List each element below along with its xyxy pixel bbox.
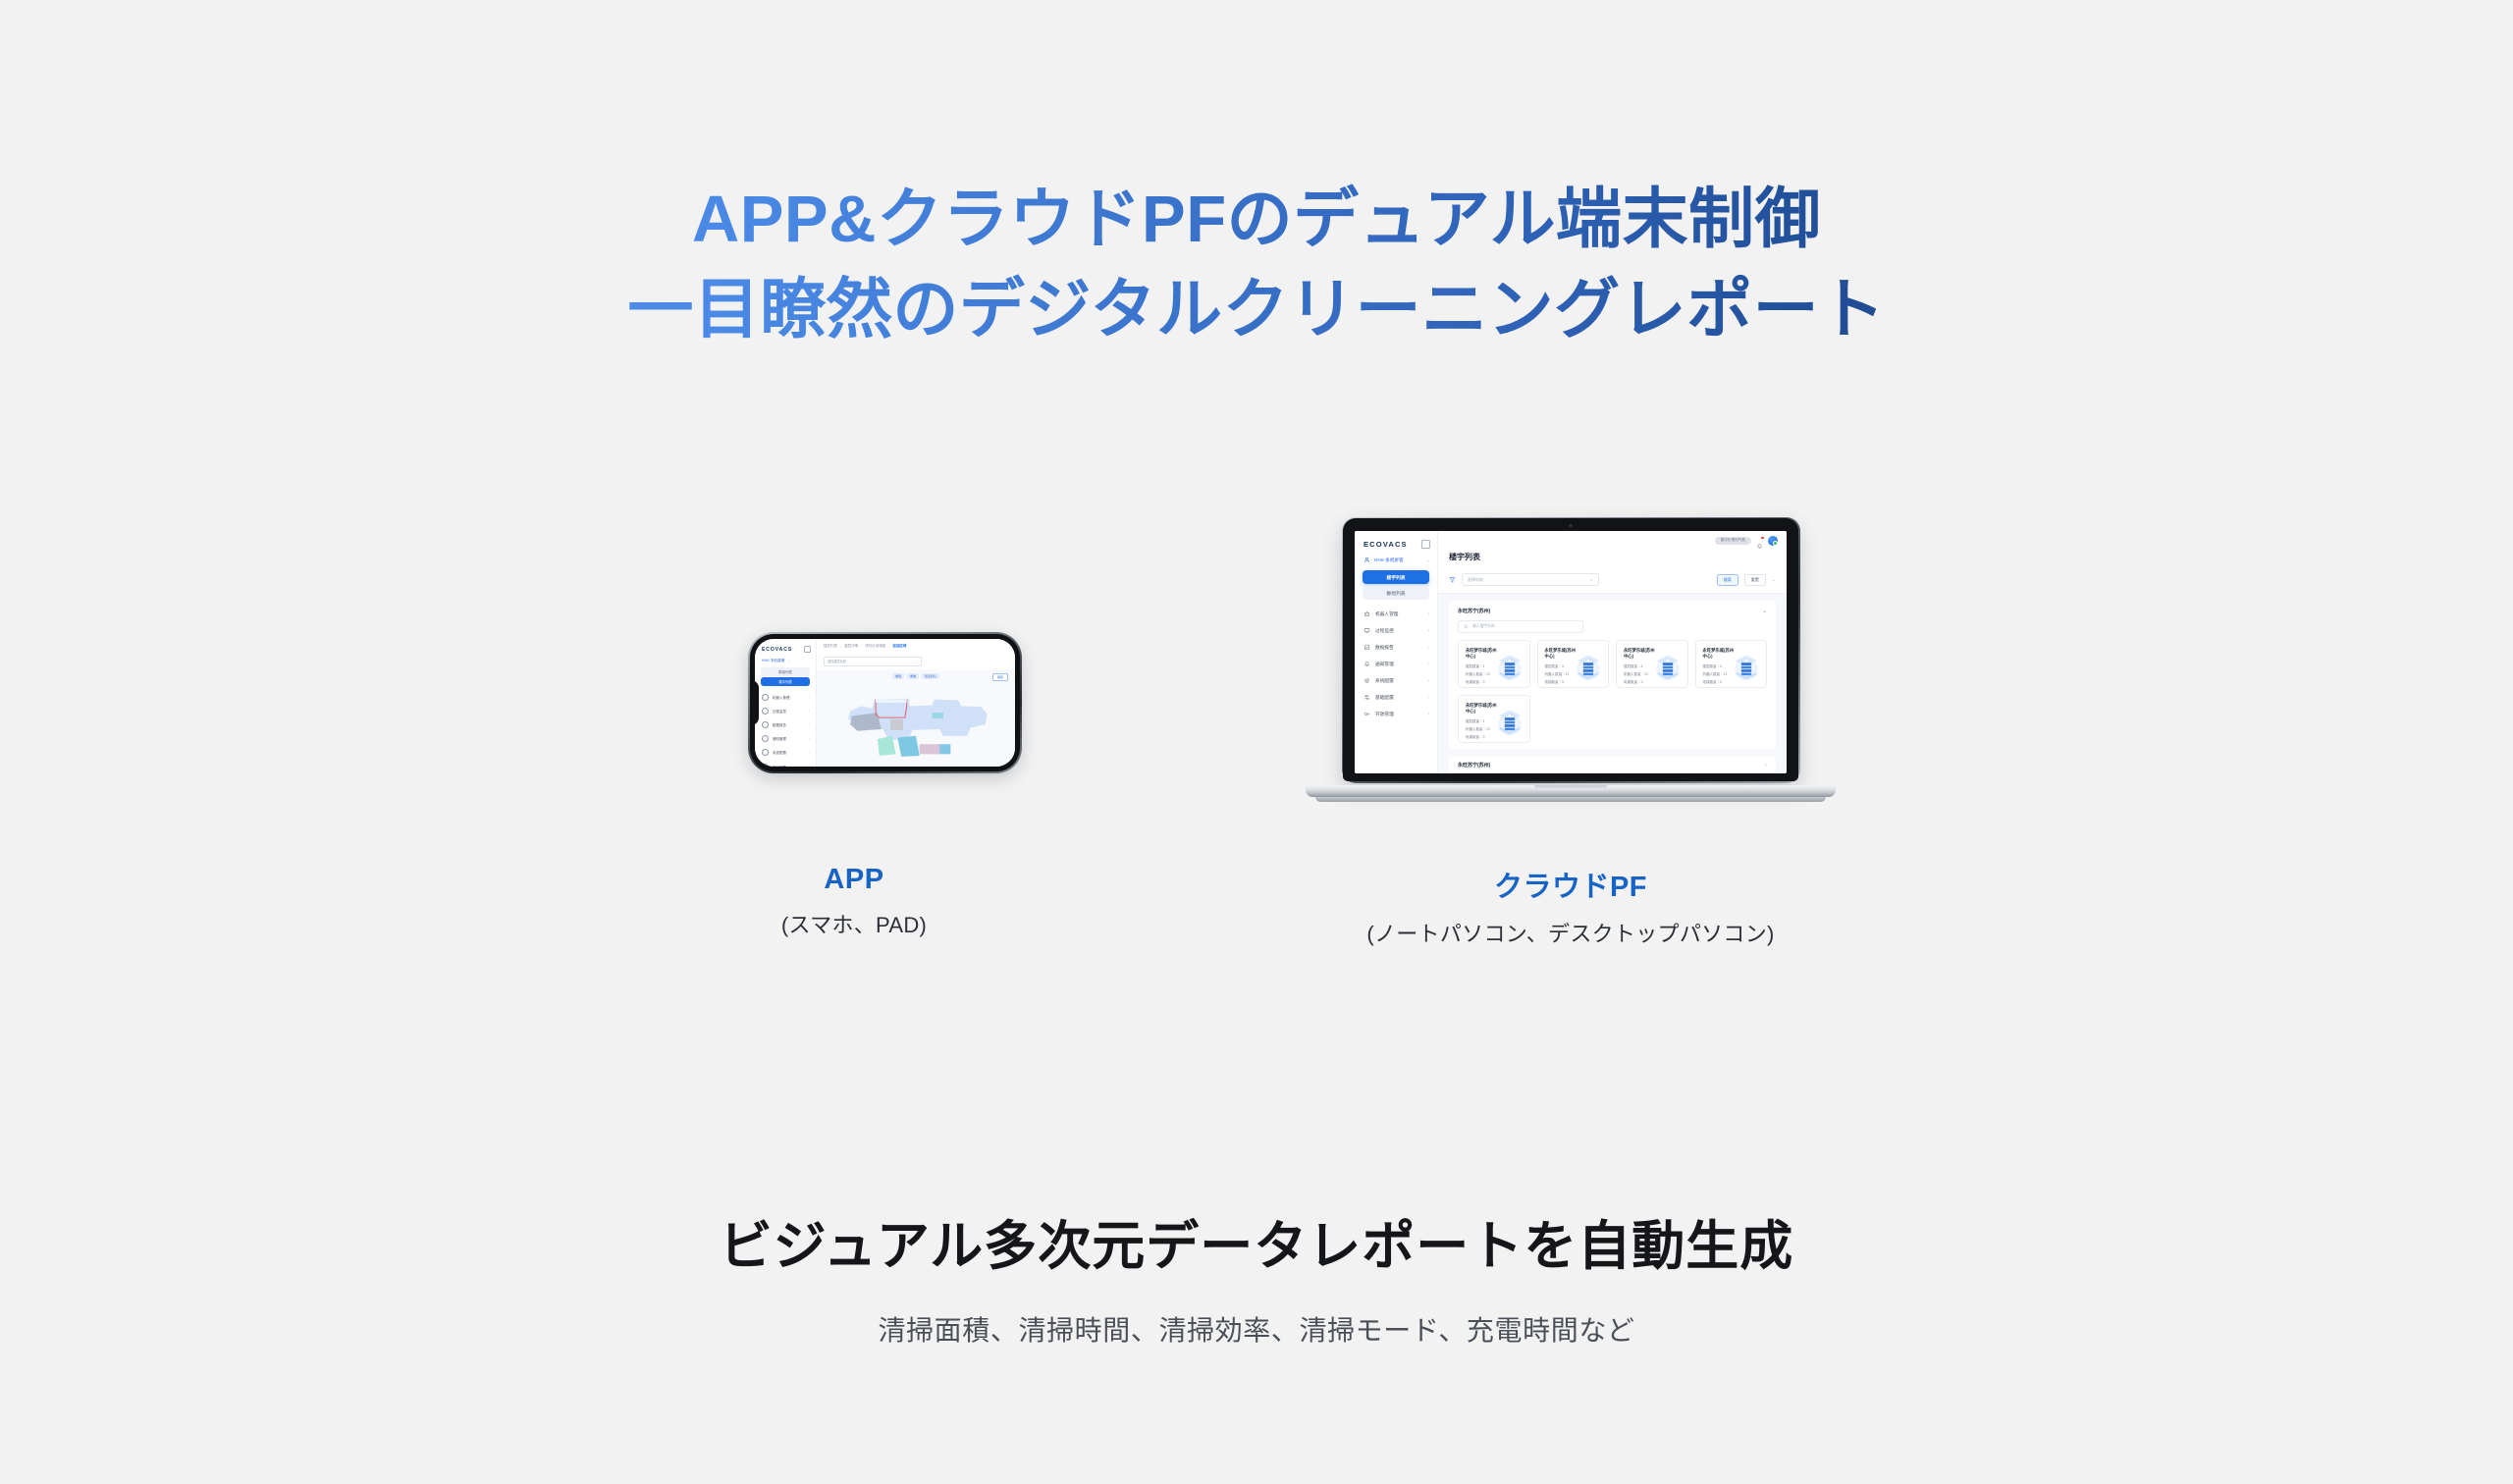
robot-icon <box>1363 610 1370 617</box>
building-card-grid: 永旺梦乐城(苏州中心) 楼层数量：4 机器人数量：12 电梯数量：3 <box>1449 640 1776 743</box>
chevron-right-icon: › <box>809 765 810 767</box>
chevron-right-icon: › <box>809 695 810 699</box>
building-card[interactable]: 永旺梦乐城(苏州中心) 楼层数量：4 机器人数量：12 电梯数量：3 <box>1458 640 1530 688</box>
filter-icon[interactable] <box>1449 576 1456 583</box>
phone-screen: ECOVACS HHS-多机房管 ⌄ 群组列表 楼宇列表 机器人管理 › <box>755 639 1015 767</box>
hero-line-2: 一目瞭然のデジタルクリーニングレポート <box>0 272 2513 348</box>
label-app-sub: (スマホ、PAD) <box>628 908 1080 939</box>
breadcrumb-item[interactable]: 清扫区域调整 <box>865 644 885 649</box>
label-cloud-sub: (ノートパソコン、デスクトップパソコン) <box>1325 917 1816 948</box>
bell-icon <box>762 735 769 742</box>
chevron-right-icon: › <box>809 751 810 755</box>
laptop-menu-label: 开放管理 <box>1375 712 1422 717</box>
laptop-menu-item-open[interactable]: 开放管理 › <box>1355 706 1437 722</box>
breadcrumb-separator: › <box>840 645 841 649</box>
card-info: 永旺梦乐城(苏州中心) 楼层数量：4 机器人数量：12 电梯数量：3 <box>1466 703 1497 742</box>
phone-menu-item[interactable]: 基础配置 › <box>755 760 816 767</box>
floorplan-map[interactable] <box>825 681 1007 765</box>
chevron-right-icon: › <box>1765 763 1767 768</box>
monitor-icon <box>762 708 769 715</box>
laptop-menu-label: 通知管理 <box>1375 662 1422 667</box>
card-info: 永旺梦乐城(苏州中心) 楼层数量：4 机器人数量：12 电梯数量：3 <box>1545 648 1577 687</box>
building-stack-icon <box>1497 653 1523 682</box>
ecovacs-logo: ECOVACS <box>762 647 792 653</box>
chevron-right-icon: › <box>1427 695 1429 701</box>
floor-select[interactable]: 选择楼层名称 ⌄ <box>824 657 922 666</box>
breadcrumb-separator: › <box>888 645 889 649</box>
expand-filters-icon[interactable]: ⌄ <box>1772 577 1776 583</box>
building-card[interactable]: 永旺梦乐城(苏州中心) 楼层数量：4 机器人数量：12 电梯数量：3 <box>1695 640 1768 688</box>
laptop-sidebar: ECOVACS HHS-多机房管 ⌄ 楼宇列表 群组列表 <box>1355 531 1438 773</box>
phone-menu-item[interactable]: 数据报告 › <box>755 717 816 731</box>
gear-icon <box>762 749 769 756</box>
hero-line-1: APP&クラウドPFのデュアル端末制御 <box>0 182 2513 258</box>
phone-menu-list: 机器人管理 › 过程监控 › 数据报告 › <box>755 690 816 767</box>
phone-main-area: 楼层列表 › 楼层详情 › 清扫区域调整 › 追加区域 选择楼层名称 ⌄ <box>817 639 1015 767</box>
redo-button[interactable]: 重做 <box>907 673 919 679</box>
card-title: 永旺梦乐城(苏州中心) <box>1624 648 1655 660</box>
phone-menu-item[interactable]: 机器人管理 › <box>755 690 816 704</box>
card-metric-elevators: 电梯数量：3 <box>1466 735 1497 740</box>
floor-select-value: 选择楼层名称 <box>828 659 846 663</box>
laptop-nav-secondary[interactable]: 群组列表 <box>1363 586 1429 600</box>
phone-map-area[interactable]: 撤销 重做 恢复默认 保存 <box>817 669 1015 768</box>
card-title: 永旺梦乐城(苏州中心) <box>1466 703 1497 715</box>
breadcrumb-current: 追加区域 <box>892 644 906 649</box>
chevron-right-icon: › <box>1427 678 1429 684</box>
laptop-menu-list: 机器人管理 › 过程监控 › 数据报告 › <box>1355 606 1437 722</box>
key-icon <box>1363 711 1370 717</box>
laptop-brand-row: ECOVACS <box>1355 535 1437 555</box>
menu-collapse-icon[interactable] <box>1421 540 1430 549</box>
laptop-menu-label: 系统配置 <box>1375 678 1422 684</box>
card-metric-floors: 楼层数量：4 <box>1545 664 1577 669</box>
chevron-right-icon: › <box>1427 628 1429 634</box>
card-metric-floors: 楼层数量：4 <box>1466 664 1497 669</box>
org-filter-select[interactable]: 选择机构 ⌄ <box>1462 573 1599 586</box>
building-card[interactable]: 永旺梦乐城(苏州中心) 楼层数量：4 机器人数量：12 电梯数量：3 <box>1458 695 1530 743</box>
chevron-right-icon: › <box>1427 645 1429 651</box>
chevron-right-icon: › <box>809 737 810 741</box>
chevron-right-icon: › <box>1427 611 1429 617</box>
sliders-icon <box>762 764 769 767</box>
phone-menu-label: 系统配置 <box>773 750 805 755</box>
laptop-main-area: 数字化清扫气氛 楼宇列表 选择机构 ⌄ <box>1438 531 1787 773</box>
org-filter-value: 选择机构 <box>1468 577 1483 583</box>
phone-menu-label: 通知管理 <box>773 736 805 741</box>
card-metric-robots: 机器人数量：12 <box>1703 672 1735 677</box>
phone-org-selector[interactable]: HHS-多机房管 ⌄ <box>755 656 816 665</box>
card-metric-floors: 楼层数量：4 <box>1703 664 1735 669</box>
avatar[interactable] <box>1768 536 1778 546</box>
building-stack-icon <box>1576 653 1601 682</box>
menu-collapse-icon[interactable] <box>804 646 811 653</box>
card-metric-elevators: 电梯数量：3 <box>1624 680 1655 685</box>
laptop-menu-label: 数据报告 <box>1375 645 1422 651</box>
laptop-content: 永旺苏宁(苏州) ⌄ 输入楼宇名称 <box>1438 594 1787 773</box>
collapsed-group-list: 永旺苏宁(苏州) › 永旺苏宁(苏州) › 永旺苏宁(苏州) › <box>1449 757 1776 773</box>
laptop-menu-item-system[interactable]: 系统配置 › <box>1355 672 1437 689</box>
sliders-icon <box>1363 694 1370 701</box>
bottom-title: ビジュアル多次元データレポートを自動生成 <box>0 1202 2513 1280</box>
laptop-menu-item-report[interactable]: 数据报告 › <box>1355 639 1437 656</box>
laptop-menu-item-robot[interactable]: 机器人管理 › <box>1355 606 1437 622</box>
laptop-menu-item-base[interactable]: 基础配置 › <box>1355 689 1437 706</box>
laptop-menu-item-notification[interactable]: 通知管理 › <box>1355 656 1437 672</box>
card-metric-elevators: 电梯数量：3 <box>1703 680 1735 685</box>
map-toolbar: 撤销 重做 恢复默认 <box>892 673 939 679</box>
notification-dot <box>1761 537 1764 540</box>
laptop-mockup: ECOVACS HHS-多机房管 ⌄ 楼宇列表 群组列表 <box>1306 510 1836 805</box>
label-app-title: APP <box>628 864 1080 896</box>
building-stack-icon <box>1655 653 1681 682</box>
gear-icon <box>1363 677 1370 684</box>
undo-button[interactable]: 撤销 <box>892 673 904 679</box>
reset-default-button[interactable]: 恢复默认 <box>922 673 939 679</box>
building-search-input[interactable]: 输入楼宇名称 <box>1458 620 1583 633</box>
card-metric-elevators: 电梯数量：3 <box>1545 680 1577 685</box>
laptop-menu-label: 机器人管理 <box>1375 611 1422 617</box>
label-cloud: クラウドPF (ノートパソコン、デスクトップパソコン) <box>1325 864 1816 948</box>
card-title: 永旺梦乐城(苏州中心) <box>1703 648 1735 660</box>
card-info: 永旺梦乐城(苏州中心) 楼层数量：4 机器人数量：12 电梯数量：3 <box>1703 648 1735 687</box>
report-icon <box>1363 644 1370 651</box>
chevron-right-icon: › <box>1427 662 1429 667</box>
card-info: 永旺梦乐城(苏州中心) 楼层数量：4 机器人数量：12 电梯数量：3 <box>1624 648 1655 687</box>
laptop-org-selector[interactable]: HHS-多机房管 ⌄ <box>1355 555 1437 568</box>
phone-menu-item[interactable]: 通知管理 › <box>755 732 816 746</box>
chevron-down-icon: ⌄ <box>915 660 918 663</box>
page-root: APP&クラウドPFのデュアル端末制御 一目瞭然のデジタルクリーニングレポート … <box>0 0 2513 1484</box>
chevron-down-icon: ⌄ <box>1426 557 1430 563</box>
phone-notch <box>750 680 759 725</box>
breadcrumb: 楼层列表 › 楼层详情 › 清扫区域调整 › 追加区域 <box>817 639 1015 653</box>
building-group-panel: 永旺苏宁(苏州) ⌄ 输入楼宇名称 <box>1449 601 1776 749</box>
chevron-right-icon: › <box>809 722 810 726</box>
panel-title: 永旺苏宁(苏州) <box>1458 608 1490 614</box>
breadcrumb-item[interactable]: 楼层列表 <box>824 644 837 649</box>
card-title: 永旺梦乐城(苏州中心) <box>1466 648 1497 660</box>
phone-menu-label: 基础配置 <box>773 765 805 767</box>
laptop-org-label: HHS-多机房管 <box>1374 557 1422 563</box>
hero-heading: APP&クラウドPFのデュアル端末制御 一目瞭然のデジタルクリーニングレポート <box>0 182 2513 349</box>
breadcrumb-item[interactable]: 楼层详情 <box>844 644 858 649</box>
laptop-menu-item-monitor[interactable]: 过程监控 › <box>1355 622 1437 639</box>
phone-menu-item[interactable]: 过程监控 › <box>755 704 816 717</box>
building-card[interactable]: 永旺梦乐城(苏州中心) 楼层数量：4 机器人数量：12 电梯数量：3 <box>1537 640 1610 688</box>
chevron-down-icon: ⌄ <box>1762 609 1767 614</box>
phone-mockup: ECOVACS HHS-多机房管 ⌄ 群组列表 楼宇列表 机器人管理 › <box>750 634 1020 771</box>
bell-icon <box>1363 661 1370 667</box>
building-search-placeholder: 输入楼宇名称 <box>1472 624 1495 629</box>
save-button[interactable]: 保存 <box>992 673 1008 682</box>
bottom-subtitle: 清掃面積、清掃時間、清掃効率、清掃モード、充電時間など <box>0 1309 2513 1349</box>
laptop-menu-label: 过程监控 <box>1375 628 1422 634</box>
bottom-section: ビジュアル多次元データレポートを自動生成 清掃面積、清掃時間、清掃効率、清掃モー… <box>0 1202 2513 1349</box>
label-app: APP (スマホ、PAD) <box>628 864 1080 939</box>
ecovacs-logo: ECOVACS <box>1363 540 1408 549</box>
laptop-nav-primary[interactable]: 楼宇列表 <box>1363 570 1429 584</box>
monitor-icon <box>1363 627 1370 634</box>
building-stack-icon <box>1497 708 1523 737</box>
search-button[interactable]: 搜索 <box>1717 574 1738 586</box>
phone-filter-bar: 选择楼层名称 ⌄ <box>817 653 1015 669</box>
panel-header[interactable]: 永旺苏宁(苏州) ⌄ <box>1449 601 1776 620</box>
org-icon <box>1363 556 1370 563</box>
building-stack-icon <box>1734 653 1759 682</box>
card-info: 永旺梦乐城(苏州中心) 楼层数量：4 机器人数量：12 电梯数量：3 <box>1466 648 1497 687</box>
phone-brand-row: ECOVACS <box>755 642 816 656</box>
chevron-down-icon: ⌄ <box>1590 577 1593 582</box>
report-icon <box>762 721 769 728</box>
collapsed-group-title: 永旺苏宁(苏州) <box>1458 762 1490 768</box>
phone-menu-label: 过程监控 <box>773 709 805 714</box>
bell-icon[interactable] <box>1756 537 1763 544</box>
card-metric-robots: 机器人数量：12 <box>1466 727 1497 732</box>
laptop-screen: ECOVACS HHS-多机房管 ⌄ 楼宇列表 群组列表 <box>1355 531 1787 773</box>
phone-nav-primary[interactable]: 楼宇列表 <box>761 677 810 686</box>
laptop-topbar: 数字化清扫气氛 <box>1438 531 1787 550</box>
card-metric-robots: 机器人数量：12 <box>1624 672 1655 677</box>
building-card[interactable]: 永旺梦乐城(苏州中心) 楼层数量：4 机器人数量：12 电梯数量：3 <box>1616 640 1688 688</box>
phone-org-label: HHS-多机房管 <box>762 658 784 662</box>
phone-menu-label: 数据报告 <box>773 722 805 727</box>
chevron-right-icon: › <box>809 709 810 713</box>
phone-sidebar: ECOVACS HHS-多机房管 ⌄ 群组列表 楼宇列表 机器人管理 › <box>755 639 817 767</box>
laptop-lid: ECOVACS HHS-多机房管 ⌄ 楼宇列表 群组列表 <box>1343 518 1798 781</box>
label-cloud-title: クラウドPF <box>1325 864 1816 905</box>
card-metric-robots: 机器人数量：12 <box>1466 672 1497 677</box>
card-metric-floors: 楼层数量：4 <box>1466 719 1497 724</box>
collapsed-group-row[interactable]: 永旺苏宁(苏州) › <box>1449 757 1776 773</box>
webcam-icon <box>1570 524 1573 527</box>
topbar-chip[interactable]: 数字化清扫气氛 <box>1715 537 1751 545</box>
laptop-filter-bar: 选择机构 ⌄ 搜索 重置 ⌄ <box>1438 568 1787 594</box>
laptop-menu-label: 基础配置 <box>1375 695 1422 701</box>
card-metric-robots: 机器人数量：12 <box>1545 672 1577 677</box>
laptop-base <box>1306 785 1836 797</box>
robot-icon <box>762 694 769 701</box>
card-title: 永旺梦乐城(苏州中心) <box>1545 648 1577 660</box>
laptop-foot <box>1315 797 1826 802</box>
phone-nav-secondary[interactable]: 群组列表 <box>761 667 810 676</box>
chevron-right-icon: › <box>1427 712 1429 717</box>
card-metric-elevators: 电梯数量：3 <box>1466 680 1497 685</box>
phone-menu-label: 机器人管理 <box>773 695 805 700</box>
reset-button[interactable]: 重置 <box>1744 574 1766 586</box>
page-title: 楼宇列表 <box>1438 550 1787 568</box>
breadcrumb-separator: › <box>861 645 862 649</box>
search-icon <box>1464 624 1469 629</box>
chevron-down-icon: ⌄ <box>787 659 790 662</box>
phone-menu-item[interactable]: 系统配置 › <box>755 746 816 760</box>
device-showcase: ECOVACS HHS-多机房管 ⌄ 群组列表 楼宇列表 机器人管理 › <box>0 510 2513 962</box>
card-metric-floors: 楼层数量：4 <box>1624 664 1655 669</box>
